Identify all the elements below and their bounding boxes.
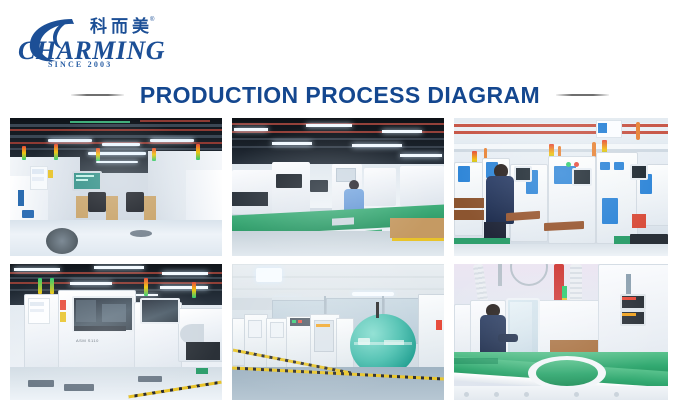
production-photo-grid: ASM S110	[10, 118, 669, 400]
logo-chinese-text: 科而美	[90, 19, 153, 36]
registered-trademark-icon: ®	[150, 17, 154, 23]
title-rule-right	[556, 94, 609, 96]
photo-placement-machine: ASM S110	[10, 264, 222, 400]
photo-packing-conveyor	[454, 264, 668, 400]
photo-assembly-conveyor	[232, 118, 444, 256]
photo-smt-line	[10, 118, 222, 256]
company-logo: CHARMING 科而美 ® SINCE 2003	[12, 11, 172, 73]
photo-test-stations	[454, 118, 668, 256]
logo-since-text: SINCE 2003	[48, 61, 112, 69]
page-title-row: PRODUCTION PROCESS DIAGRAM	[0, 80, 680, 110]
title-rule-left	[71, 94, 124, 96]
page-title: PRODUCTION PROCESS DIAGRAM	[140, 82, 540, 109]
photo-integrating-sphere-lab	[232, 264, 444, 400]
